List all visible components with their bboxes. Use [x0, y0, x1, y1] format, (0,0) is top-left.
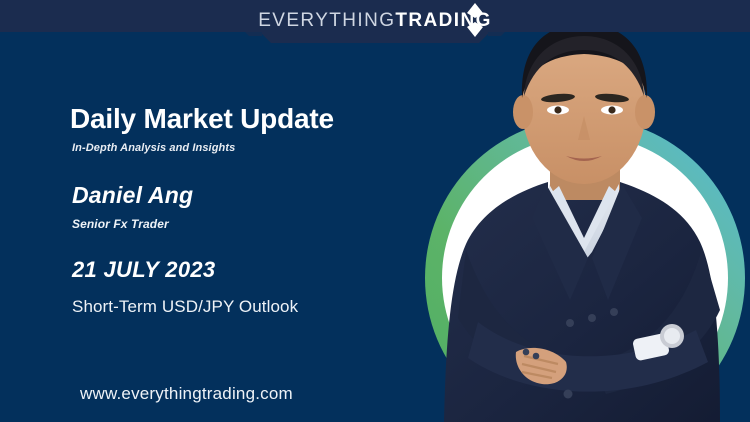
- page-title: Daily Market Update: [70, 104, 470, 135]
- logo-text: EVERYTHINGTRADING: [258, 11, 492, 30]
- slide-canvas: EVERYTHINGTRADING: [0, 0, 750, 422]
- slide-text-block: Daily Market Update In-Depth Analysis an…: [70, 104, 470, 317]
- double-arrow-diamond-icon: [465, 2, 485, 38]
- publication-date: 21 JULY 2023: [72, 257, 470, 283]
- logo-light-text: EVERYTHING: [258, 11, 395, 30]
- presenter-role: Senior Fx Trader: [72, 217, 470, 231]
- topic-headline: Short-Term USD/JPY Outlook: [72, 297, 470, 317]
- page-subtitle: In-Depth Analysis and Insights: [72, 142, 470, 154]
- brand-logo[interactable]: EVERYTHINGTRADING: [0, 0, 750, 40]
- website-url[interactable]: www.everythingtrading.com: [80, 384, 293, 404]
- presenter-name: Daniel Ang: [72, 182, 470, 209]
